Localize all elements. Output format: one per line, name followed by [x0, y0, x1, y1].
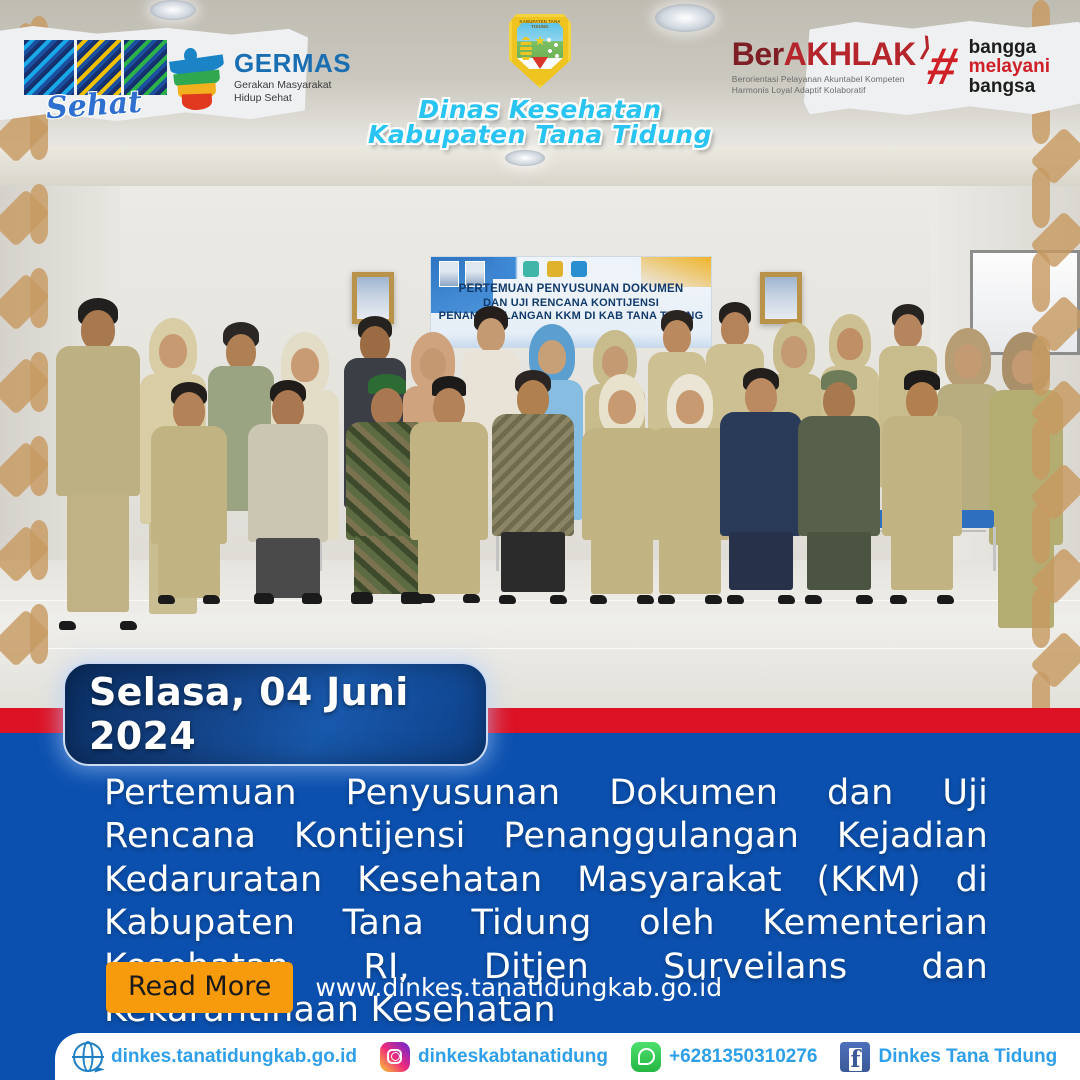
germas-sub-line1: Gerakan Masyarakat [234, 79, 351, 91]
ktt-sehat-script: Sehat [45, 85, 143, 127]
germas-sub-line2: Hidup Sehat [234, 92, 351, 104]
person-seated [652, 374, 728, 602]
tagline-line2: melayani [969, 57, 1050, 76]
footer-item-facebook[interactable]: f Dinkes Tana Tidung [840, 1042, 1057, 1072]
person-back [55, 298, 141, 628]
person-seated [722, 368, 800, 602]
date-text: Selasa, 04 Juni 2024 [65, 670, 486, 758]
instagram-icon [380, 1042, 410, 1072]
globe-icon [73, 1042, 103, 1072]
person-seated [494, 370, 572, 602]
website-url: www.dinkes.tanatidungkab.go.id [315, 973, 722, 1002]
berakhlak-prefix: Ber [732, 36, 784, 72]
footer-label-facebook: Dinkes Tana Tidung [878, 1046, 1057, 1068]
kabupaten-emblem-icon: KABUPATEN TANA TIDUNG ★ [509, 14, 571, 88]
footer-item-whatsapp[interactable]: +6281350310276 [631, 1042, 817, 1072]
berakhlak-suffix: AKHLAK [784, 36, 916, 72]
footer-label-instagram: dinkeskabtanatidung [418, 1046, 608, 1068]
footer-label-website: dinkes.tanatidungkab.go.id [111, 1046, 357, 1068]
germas-icon [168, 46, 226, 108]
footer-item-website[interactable]: dinkes.tanatidungkab.go.id [73, 1042, 357, 1072]
ceiling-light [505, 150, 545, 166]
person-seated [800, 370, 878, 602]
ktt-sehat-logo: K T T Sehat [24, 40, 156, 122]
germas-text: GERMAS Gerakan Masyarakat Hidup Sehat [234, 50, 351, 104]
bangga-melayani-bangsa: bangga melayani bangsa [969, 38, 1050, 96]
person-seated [152, 382, 226, 602]
germas-title: GERMAS [234, 50, 351, 76]
footer-label-whatsapp: +6281350310276 [669, 1046, 817, 1068]
poster-canvas: PERTEMUAN PENYUSUNAN DOKUMEN DAN UJI REN… [0, 0, 1080, 1080]
dinas-title-line2: Kabupaten Tana Tidung [0, 122, 1080, 147]
germas-logo: GERMAS Gerakan Masyarakat Hidup Sehat [168, 46, 351, 108]
read-more-row: Read More www.dinkes.tanatidungkab.go.id [106, 962, 722, 1013]
person-seated [884, 370, 960, 602]
person-seated [412, 376, 486, 601]
facebook-icon: f [840, 1042, 870, 1072]
floor-tile-line [0, 648, 1080, 649]
berakhlak-subtitle: Berorientasi Pelayanan Akuntabel Kompete… [732, 74, 916, 96]
berakhlak-text-block: BerAKHLAK⟩ Berorientasi Pelayanan Akunta… [732, 38, 916, 96]
berakhlak-sub-line2: Harmonis Loyal Adaptif Kolaboratif [732, 85, 916, 96]
tagline-line3: bangsa [969, 77, 1050, 96]
group-photo-people [0, 270, 1080, 630]
whatsapp-icon [631, 1042, 661, 1072]
tagline-line1: bangga [969, 38, 1050, 57]
contact-footer-bar: dinkes.tanatidungkab.go.id dinkeskabtana… [55, 1033, 1080, 1080]
ktt-letter-k: K [24, 40, 74, 95]
berakhlak-title: BerAKHLAK⟩ [732, 38, 916, 70]
berakhlak-logo: BerAKHLAK⟩ Berorientasi Pelayanan Akunta… [732, 38, 1050, 96]
emblem-caption: KABUPATEN TANA TIDUNG [512, 19, 568, 29]
person-seated-police [250, 380, 326, 602]
person-seated [584, 374, 660, 602]
dinas-title: Dinas Kesehatan Kabupaten Tana Tidung [0, 97, 1080, 147]
berakhlak-sub-line1: Berorientasi Pelayanan Akuntabel Kompete… [732, 74, 916, 85]
footer-item-instagram[interactable]: dinkeskabtanatidung [380, 1042, 608, 1072]
read-more-button[interactable]: Read More [106, 962, 293, 1013]
date-badge: Selasa, 04 Juni 2024 [63, 662, 488, 766]
